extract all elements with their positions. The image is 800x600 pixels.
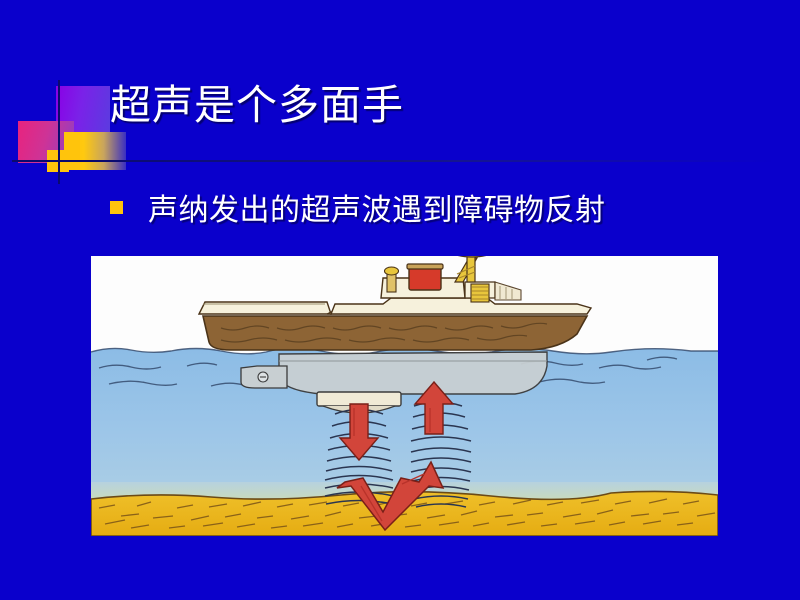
submerged-hull [279,352,547,394]
sonar-diagram-svg [91,256,718,536]
title-divider-rule [74,160,774,162]
square-bullet-icon [110,201,123,214]
ship-hull [203,316,587,350]
slide-title: 超声是个多面手 [110,83,404,129]
bullet-list-item: 声纳发出的超声波遇到障碍物反射 [110,185,606,229]
cross-vertical-line [58,80,60,184]
sonar-ship-diagram [91,256,718,536]
presentation-slide: 超声是个多面手 声纳发出的超声波遇到障碍物反射 [0,0,800,600]
bullet-item-label: 声纳发出的超声波遇到障碍物反射 [148,185,606,229]
ship-funnel [409,266,441,290]
